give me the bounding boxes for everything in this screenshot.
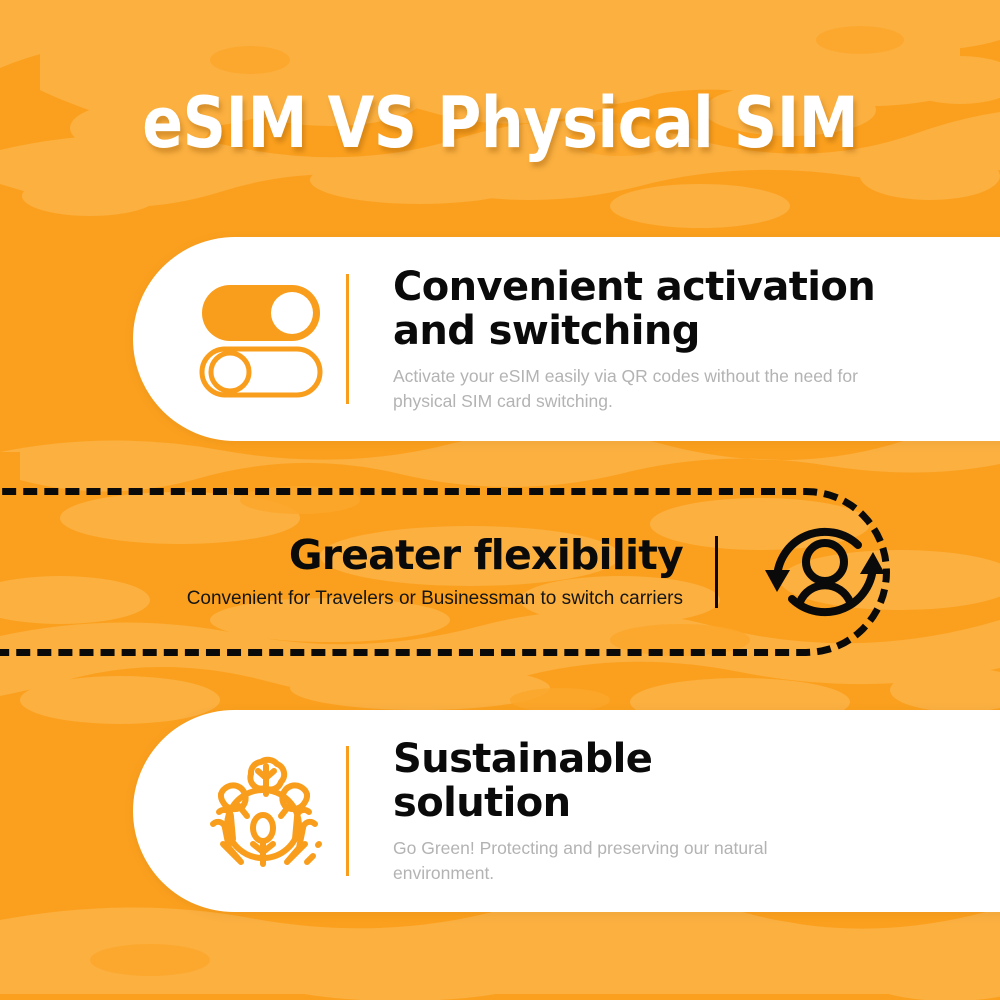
card-title-line2: and switching [393,309,1000,353]
page-title: eSIM VS Physical SIM [142,88,858,158]
page-title-container: eSIM VS Physical SIM [0,78,1000,168]
card-body-text: Activate your eSIM easily via QR codes w… [393,364,863,414]
band-title: Greater flexibility [0,534,683,577]
card-text-block: Sustainable solution Go Green! Protectin… [393,737,1000,886]
card-title-line1: Sustainable [393,736,652,782]
card-convenient-activation: Convenient activation and switching Acti… [133,237,1000,441]
card-divider [346,746,349,876]
band-greater-flexibility: Greater flexibility Convenient for Trave… [0,488,900,656]
toggle-switches-icon [188,264,338,414]
band-divider [715,536,718,608]
card-divider [346,274,349,404]
hands-globe-eco-icon [188,736,338,886]
card-title-line1: Convenient activation [393,264,875,310]
card-title: Sustainable solution [393,737,1000,825]
card-title: Convenient activation and switching [393,265,1000,353]
card-sustainable-solution: Sustainable solution Go Green! Protectin… [133,710,1000,912]
card-title-line2: solution [393,781,1000,825]
band-subtitle: Convenient for Travelers or Businessman … [0,588,683,610]
card-body-text: Go Green! Protecting and preserving our … [393,836,863,886]
person-refresh-arrows-icon [750,497,900,647]
infographic-canvas: eSIM VS Physical SIM Convenient activati… [0,0,1000,1000]
band-text-block: Greater flexibility Convenient for Trave… [0,534,715,610]
card-text-block: Convenient activation and switching Acti… [393,265,1000,414]
